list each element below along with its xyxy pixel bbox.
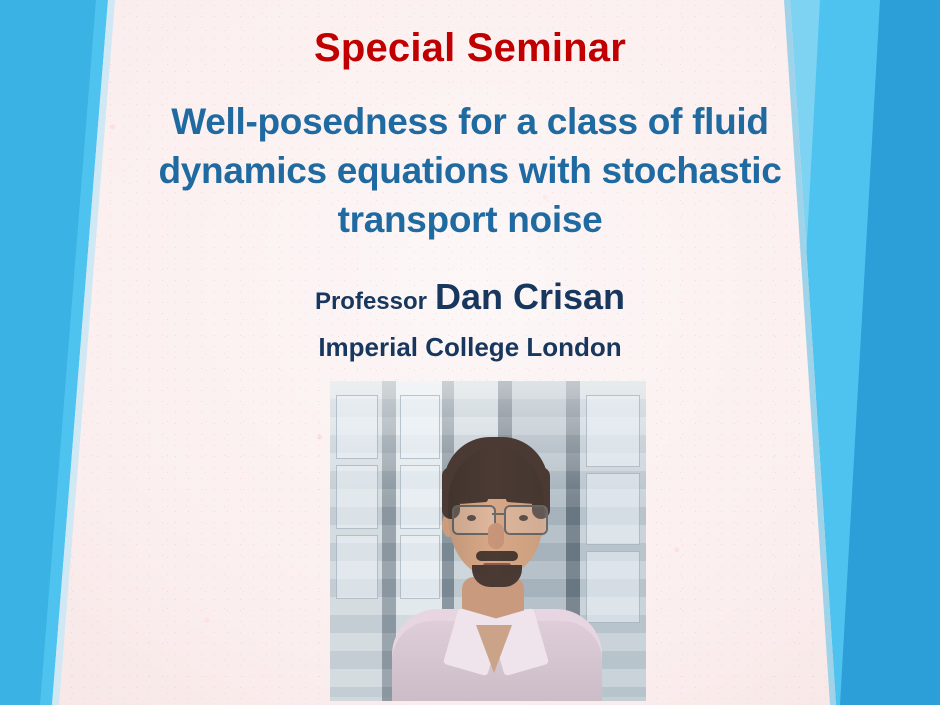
photo-window-pane [586,395,640,467]
photo-window-pane [336,535,378,599]
speaker-name: Dan Crisan [435,276,625,317]
speaker-photo [330,381,646,701]
speaker-title-prefix: Professor [315,288,427,315]
photo-window-pane [400,535,440,599]
speaker-affiliation: Imperial College London [0,332,940,363]
speaker-line: ProfessorDan Crisan [0,276,940,318]
photo-window-pane [586,551,640,623]
photo-window-pane [336,395,378,459]
seminar-title: Well-posedness for a class of fluid dyna… [90,98,850,244]
slide-content: Special Seminar Well-posedness for a cla… [0,0,940,705]
photo-window-pane [586,473,640,545]
photo-window-pane [400,465,440,529]
seminar-kicker: Special Seminar [0,26,940,71]
photo-window-pane [400,395,440,459]
seminar-poster-slide: Special Seminar Well-posedness for a cla… [0,0,940,705]
photo-window-pane [336,465,378,529]
photo-person-face-shading [448,447,544,577]
